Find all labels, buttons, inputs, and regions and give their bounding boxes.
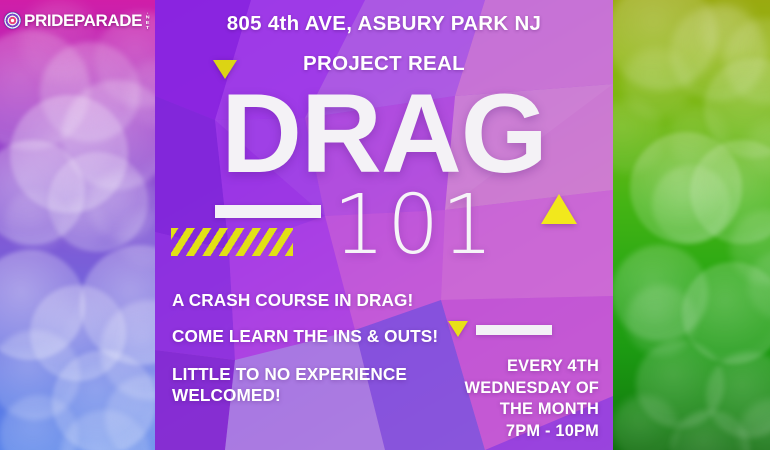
bokeh-circle (724, 18, 770, 104)
bokeh-circle (0, 250, 85, 360)
body-line-1: A CRASH COURSE IN DRAG! (172, 292, 438, 309)
bokeh-circle (5, 190, 67, 252)
schedule-block: EVERY 4TH WEDNESDAY OF THE MONTH 7PM - 1… (465, 356, 599, 443)
triangle-up-icon (541, 194, 577, 224)
bokeh-circle (30, 285, 126, 381)
brand-tld: .NET (144, 10, 150, 31)
center-poster-panel: 805 4th AVE, ASBURY PARK NJ PROJECT REAL… (155, 0, 613, 450)
bokeh-circle (80, 245, 158, 365)
bokeh-circle (652, 165, 730, 243)
poster-canvas: 805 4th AVE, ASBURY PARK NJ PROJECT REAL… (0, 0, 770, 450)
bokeh-circle (48, 152, 148, 252)
bokeh-circle (612, 100, 664, 172)
left-bokeh-background (0, 0, 158, 450)
body-line-3a: LITTLE TO NO EXPERIENCE (172, 364, 438, 385)
bokeh-circle (748, 250, 770, 320)
white-bar-accent-secondary (476, 325, 552, 335)
brand-name: PRIDEPARADE (24, 12, 142, 29)
bokeh-circle (10, 95, 128, 213)
body-line-3b: WELCOMED! (172, 385, 438, 406)
bokeh-circle (626, 285, 696, 355)
bokeh-circle (105, 375, 158, 450)
bokeh-circle (62, 80, 158, 190)
schedule-line-3: THE MONTH (465, 399, 599, 421)
bokeh-circle (682, 262, 770, 364)
bokeh-circle (125, 60, 158, 126)
bokeh-circle (40, 42, 140, 142)
bokeh-circle (636, 340, 724, 428)
bokeh-circle (52, 350, 156, 450)
bokeh-circle (738, 398, 770, 450)
diagonal-stripe-bar (171, 228, 293, 256)
bokeh-circle (612, 245, 708, 341)
bokeh-circle (706, 352, 770, 438)
bokeh-circle (690, 140, 770, 244)
bokeh-circle (100, 300, 158, 400)
rainbow-spiral-icon (4, 12, 21, 29)
bokeh-circle (670, 5, 766, 101)
right-bokeh-background (612, 0, 770, 450)
bokeh-circle (704, 58, 770, 158)
subtitle-101: 101 (333, 185, 496, 267)
bokeh-circle (0, 330, 80, 420)
bokeh-circle (0, 395, 78, 450)
page-title: DRAG (155, 78, 613, 190)
bokeh-circle (730, 210, 770, 284)
bokeh-circle (88, 170, 158, 240)
bokeh-circle (746, 120, 770, 174)
bokeh-circle (118, 210, 158, 266)
bokeh-circle (670, 410, 750, 450)
header-address: 805 4th AVE, ASBURY PARK NJ (155, 14, 613, 35)
bokeh-circle (60, 410, 150, 450)
schedule-line-2: WEDNESDAY OF (465, 378, 599, 400)
white-bar-accent (215, 205, 321, 218)
bokeh-circle (700, 0, 758, 58)
bokeh-circle (58, 200, 106, 248)
triangle-down-icon-mini (448, 321, 468, 337)
bokeh-circle (612, 0, 717, 90)
schedule-line-4: 7PM - 10PM (465, 421, 599, 443)
body-line-2: COME LEARN THE INS & OUTS! (172, 328, 438, 345)
bokeh-circle (630, 132, 742, 244)
body-copy: A CRASH COURSE IN DRAG! COME LEARN THE I… (172, 292, 438, 406)
bokeh-circle (0, 140, 85, 245)
bokeh-circle (622, 48, 692, 118)
schedule-line-1: EVERY 4TH (465, 356, 599, 378)
bokeh-circle (0, 30, 90, 150)
brand-logo[interactable]: PRIDEPARADE .NET (4, 8, 150, 33)
bokeh-circle (667, 105, 727, 165)
bokeh-circle (612, 395, 678, 450)
